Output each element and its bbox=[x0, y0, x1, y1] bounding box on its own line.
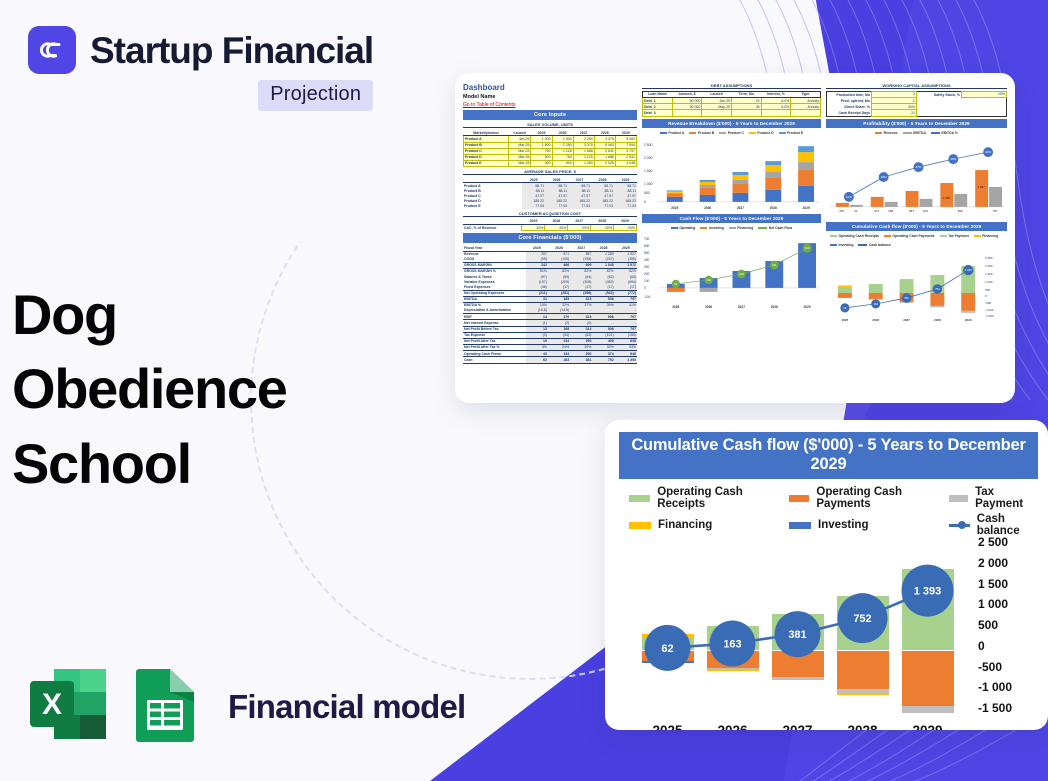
legend-swatch bbox=[949, 495, 968, 502]
svg-text:10%: 10% bbox=[846, 195, 852, 199]
table-row: Debt_3 bbox=[643, 110, 821, 116]
table-cell: 163 bbox=[548, 357, 570, 363]
y-axis-tick: 2 000 bbox=[978, 556, 1038, 570]
svg-text:37%: 37% bbox=[916, 165, 922, 169]
table-row: Cash Receipt Days21 bbox=[827, 110, 1007, 116]
table-row: Cash621633817521 393 bbox=[463, 357, 637, 363]
svg-text:2 000: 2 000 bbox=[644, 156, 653, 160]
svg-text:1 285: 1 285 bbox=[943, 196, 951, 200]
svg-text:1 500: 1 500 bbox=[644, 169, 653, 173]
svg-text:2 500: 2 500 bbox=[644, 143, 653, 147]
cumulative-cash-flow-title: Cumulative Cash flow ($'000) - 5 Years t… bbox=[619, 432, 1038, 479]
legend-swatch bbox=[789, 522, 811, 529]
y-axis-tick: -500 bbox=[978, 660, 1038, 674]
page-title-line-3: School bbox=[12, 427, 287, 501]
cash-balance-label: 62 bbox=[661, 643, 673, 655]
legend-item-investing: Investing bbox=[789, 513, 949, 537]
working-capital-caption: WORKING CAPITAL ASSUMPTIONS bbox=[826, 83, 1007, 89]
page-title-line-2: Obedience bbox=[12, 352, 287, 426]
x-axis-tick: 2026 bbox=[707, 723, 759, 731]
cash-balance-label: 752 bbox=[853, 613, 871, 625]
cumulative-cash-flow-card[interactable]: Cumulative Cash flow ($'000) - 5 Years t… bbox=[605, 420, 1048, 730]
cumulative-cash-flow-mini-title: Cumulative Cash flow ($'000) - 5 Years t… bbox=[826, 222, 1007, 231]
table-of-contents-link[interactable]: Go to Table of Contents bbox=[463, 102, 637, 108]
svg-text:500: 500 bbox=[644, 191, 650, 195]
svg-text:600: 600 bbox=[644, 244, 650, 248]
cash-flow-mini-legend: Operating Investing Financing Net Cash F… bbox=[642, 225, 821, 232]
svg-text:2028: 2028 bbox=[934, 317, 941, 321]
projection-badge: Projection bbox=[258, 80, 373, 111]
sales-volume-caption: SALES VOLUME, UNITS bbox=[463, 122, 637, 128]
svg-text:1 000: 1 000 bbox=[644, 182, 653, 186]
y-axis-tick: 2 500 bbox=[978, 535, 1038, 549]
debt-assumptions-table: Loan Name Amount, $ Launch Term, Mo Inte… bbox=[642, 91, 821, 117]
cac-caption: CUSTOMER ACQUISITION COST bbox=[463, 211, 637, 217]
svg-text:185: 185 bbox=[888, 208, 893, 212]
svg-text:-500: -500 bbox=[985, 301, 991, 305]
svg-text:-1 000: -1 000 bbox=[985, 307, 994, 311]
svg-text:2029: 2029 bbox=[803, 205, 810, 209]
brand-logo: Startup Financial Projection bbox=[28, 26, 373, 111]
y-axis-tick: 1 000 bbox=[978, 597, 1038, 611]
x-axis-labels: 20252026202720282029 bbox=[635, 717, 960, 730]
core-financials-band: Core Financials ($'000) bbox=[463, 233, 637, 243]
row-label: Cash bbox=[463, 357, 526, 363]
model-name-label: Model Name bbox=[463, 94, 637, 100]
svg-text:371: 371 bbox=[772, 263, 777, 267]
revenue-breakdown-chart: 2 5002 0001 500 1 0005000 20252026202720… bbox=[642, 139, 821, 212]
y-axis-tick: 1 500 bbox=[978, 577, 1038, 591]
dashboard-revenue-column: DEBT ASSUMPTIONS Loan Name Amount, $ Lau… bbox=[642, 83, 821, 397]
svg-text:2027: 2027 bbox=[903, 317, 910, 321]
profitability-legend: Revenue EBITDA EBITDA % bbox=[826, 130, 1007, 137]
svg-text:640: 640 bbox=[805, 246, 810, 250]
svg-text:2 500: 2 500 bbox=[985, 256, 993, 260]
svg-text:0: 0 bbox=[644, 286, 646, 290]
dashboard-profitability-column: WORKING CAPITAL ASSUMPTIONS Production t… bbox=[826, 83, 1007, 397]
cumulative-cash-flow-legend: Operating Cash Receipts Operating Cash P… bbox=[619, 479, 1038, 541]
svg-text:1 500: 1 500 bbox=[985, 272, 993, 276]
table-cell: 62 bbox=[526, 357, 548, 363]
svg-text:2025: 2025 bbox=[672, 304, 679, 308]
y-axis-tick: 0 bbox=[978, 639, 1038, 653]
svg-text:857: 857 bbox=[909, 208, 914, 212]
svg-text:-1 500: -1 500 bbox=[985, 313, 994, 317]
profitability-chart: 29731 571185 857313 1 285506 1 927797 10… bbox=[826, 139, 1007, 220]
svg-text:571: 571 bbox=[874, 208, 879, 212]
cash-balance-label: 381 bbox=[788, 629, 806, 641]
dashboard-inputs-column: Dashboard Model Name Go to Table of Cont… bbox=[463, 83, 637, 397]
revenue-breakdown-title: Revenue Breakdown ($'000) - 5 Years to D… bbox=[642, 119, 821, 128]
core-financials-table: Fiscal Year 2025 2026 2027 2028 2029 Rev… bbox=[463, 245, 637, 363]
svg-text:0: 0 bbox=[985, 294, 987, 298]
svg-text:1 927: 1 927 bbox=[977, 185, 985, 189]
x-axis-tick: 2029 bbox=[902, 723, 954, 731]
avg-price-caption: AVERAGE SALES PRICE, $ bbox=[463, 169, 637, 175]
svg-text:313: 313 bbox=[923, 208, 928, 212]
cash-balance-label: 1 393 bbox=[914, 586, 942, 598]
dashboard-preview-card[interactable]: Dashboard Model Name Go to Table of Cont… bbox=[455, 73, 1015, 403]
svg-text:2025: 2025 bbox=[671, 205, 678, 209]
svg-text:297: 297 bbox=[839, 208, 844, 212]
cumulative-cash-flow-mini-chart: 2 5002 0001 5001 000 5000-500-1 000-1 50… bbox=[826, 251, 1007, 324]
svg-text:1 000: 1 000 bbox=[985, 280, 993, 284]
google-sheets-icon bbox=[130, 665, 200, 748]
sales-volume-table: Market/product Launch 2025 2026 2027 202… bbox=[463, 130, 637, 167]
svg-text:500: 500 bbox=[985, 288, 990, 292]
svg-text:32%: 32% bbox=[881, 175, 887, 179]
svg-text:62: 62 bbox=[674, 282, 678, 286]
working-capital-table: Production time, Mo 2 Safety Stock, % 10… bbox=[826, 91, 1007, 117]
table-cell: 381 bbox=[570, 357, 592, 363]
y-axis-tick: 500 bbox=[978, 618, 1038, 632]
legend-swatch bbox=[629, 522, 651, 529]
svg-text:381: 381 bbox=[904, 296, 909, 300]
svg-text:62: 62 bbox=[843, 306, 847, 310]
svg-text:41%: 41% bbox=[985, 150, 991, 154]
cumulative-cash-flow-mini-legend: Operating Cash Receipts Operating Cash P… bbox=[826, 233, 1007, 249]
svg-text:100: 100 bbox=[644, 279, 650, 283]
svg-text:2027: 2027 bbox=[737, 205, 744, 209]
infinity-e-icon bbox=[28, 26, 76, 74]
y-axis-tick: -1 500 bbox=[978, 701, 1038, 715]
legend-line-marker bbox=[949, 524, 970, 527]
svg-text:2026: 2026 bbox=[705, 304, 712, 308]
profitability-title: Profitability ($'000) - 5 Years to Decem… bbox=[826, 119, 1007, 128]
svg-text:797: 797 bbox=[993, 208, 998, 212]
cash-balance-markers: 621633817521 393 bbox=[635, 543, 960, 715]
svg-text:2028: 2028 bbox=[770, 205, 777, 209]
cash-flow-mini-chart: 700600500400 3002001000-100 bbox=[642, 234, 821, 311]
financial-model-label: Financial model bbox=[228, 688, 465, 726]
legend-item-financing: Financing bbox=[629, 513, 789, 537]
legend-swatch bbox=[629, 495, 650, 502]
page-title: Dog Obedience School bbox=[12, 278, 287, 501]
svg-text:500: 500 bbox=[644, 251, 650, 255]
average-price-table: 2025 2026 2027 2028 2029 Product A58.715… bbox=[463, 177, 637, 209]
svg-text:0: 0 bbox=[644, 199, 646, 203]
svg-text:101: 101 bbox=[706, 278, 711, 282]
table-cell: 752 bbox=[592, 357, 614, 363]
legend-item-operating-cash-payments: Operating Cash Payments bbox=[789, 486, 949, 510]
table-row: Product E77.0377.0377.0377.0377.03 bbox=[463, 204, 637, 209]
svg-text:2029: 2029 bbox=[965, 317, 972, 321]
y-axis-labels: 2 5002 0001 5001 0005000-500-1 000-1 500 bbox=[964, 535, 1038, 715]
debt-assumptions-caption: DEBT ASSUMPTIONS bbox=[642, 83, 821, 89]
svg-text:2026: 2026 bbox=[704, 205, 711, 209]
table-cell: 1 393 bbox=[615, 357, 637, 363]
brand-name: Startup Financial bbox=[90, 32, 373, 69]
svg-text:2025: 2025 bbox=[842, 317, 849, 321]
format-badges: X Financial model bbox=[28, 665, 465, 748]
plot-area: 621633817521 393 bbox=[635, 543, 960, 715]
svg-text:2029: 2029 bbox=[804, 304, 811, 308]
svg-text:2028: 2028 bbox=[771, 304, 778, 308]
table-row: CAC, % of Revenue 20% 20% 20% 20% 20% bbox=[463, 225, 637, 231]
legend-item-tax-payment: Tax Payment bbox=[949, 486, 1036, 510]
svg-text:-100: -100 bbox=[644, 294, 651, 298]
cash-balance-label: 163 bbox=[723, 638, 741, 650]
x-axis-tick: 2025 bbox=[642, 723, 694, 731]
revenue-breakdown-legend: Product A Product B Product C Product D … bbox=[642, 130, 821, 137]
dashboard-heading: Dashboard bbox=[463, 83, 637, 92]
svg-text:163: 163 bbox=[873, 302, 878, 306]
svg-text:X: X bbox=[42, 688, 62, 721]
legend-item-cash-balance: Cash balance bbox=[949, 513, 1036, 537]
svg-text:31: 31 bbox=[854, 208, 858, 212]
svg-text:300: 300 bbox=[644, 265, 650, 269]
x-axis-tick: 2027 bbox=[772, 723, 824, 731]
svg-text:39%: 39% bbox=[950, 157, 956, 161]
y-axis-tick: -1 000 bbox=[978, 680, 1038, 694]
legend-swatch bbox=[789, 495, 809, 502]
cumulative-cash-flow-plot: 621633817521 393 2 5002 0001 5001 000500… bbox=[625, 543, 1038, 730]
legend-item-operating-cash-receipts: Operating Cash Receipts bbox=[629, 486, 789, 510]
svg-text:700: 700 bbox=[644, 237, 650, 241]
microsoft-excel-icon: X bbox=[28, 665, 108, 748]
core-inputs-band: Core Inputs bbox=[463, 110, 637, 120]
table-row: Product EMar-254009001 3502 0253 038 bbox=[464, 160, 637, 166]
svg-text:218: 218 bbox=[739, 272, 744, 276]
svg-text:2 000: 2 000 bbox=[985, 264, 993, 268]
svg-text:1 393: 1 393 bbox=[965, 268, 972, 272]
svg-text:752: 752 bbox=[935, 287, 940, 291]
svg-text:2027: 2027 bbox=[738, 304, 745, 308]
page-title-line-1: Dog bbox=[12, 278, 287, 352]
cac-table: 2025 2026 2027 2028 2029 CAC, % of Reven… bbox=[463, 219, 637, 231]
svg-text:506: 506 bbox=[958, 208, 963, 212]
x-axis-tick: 2028 bbox=[837, 723, 889, 731]
cash-flow-mini-title: Cash Flow ($'000) - 5 Years to December … bbox=[642, 214, 821, 223]
svg-text:200: 200 bbox=[644, 272, 650, 276]
svg-text:400: 400 bbox=[644, 258, 650, 262]
svg-text:2026: 2026 bbox=[872, 317, 879, 321]
